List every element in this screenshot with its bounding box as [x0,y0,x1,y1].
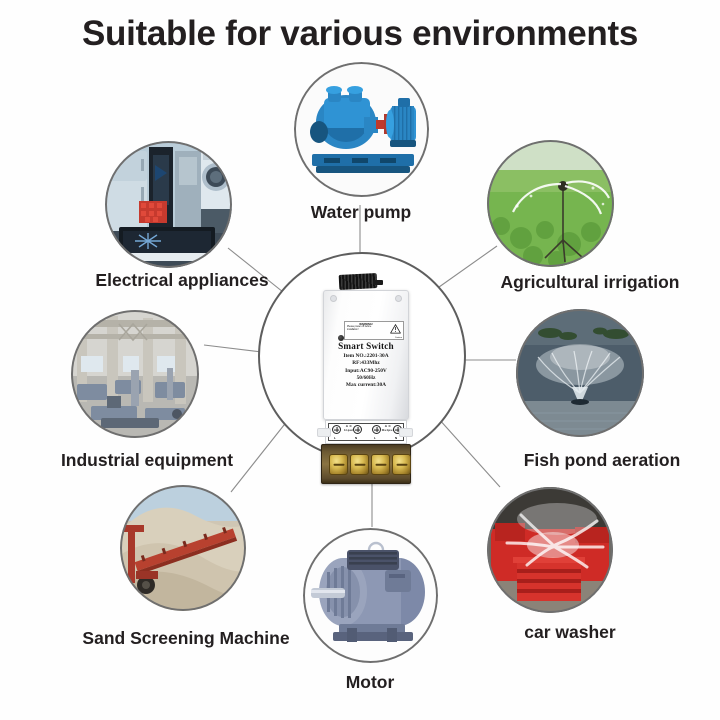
fish-pond-aeration-ring [516,309,644,437]
electrical-appliances-ring [105,141,232,268]
caution-label: Caution [395,337,402,339]
pole-label-n1: N [355,436,357,440]
device-specs: Item NO.:2201-30A RF:433Mhz Input:AC90-2… [324,353,408,389]
pole-label-l2: L [374,436,376,440]
antenna-base [373,280,383,285]
app-circle-electrical-appliances[interactable] [105,141,232,268]
app-label-car-washer: car washer [470,622,670,643]
mounting-foot-right [399,428,413,437]
mounting-foot-left [317,428,331,437]
car-washer-ring [487,487,613,613]
brass-terminal-2 [350,454,369,475]
smart-switch-device[interactable]: WARNING! Please power off before install… [315,268,415,450]
app-circle-motor[interactable] [303,528,438,663]
app-circle-fish-pond-aeration[interactable] [516,309,644,437]
spec-frequency: 50/60Hz [324,375,408,382]
caution-triangle-icon [390,324,401,334]
brass-terminal-1 [329,454,348,475]
ac-input-line2: Input [344,428,354,432]
app-label-agricultural-irrigation: Agricultural irrigation [470,272,710,293]
app-circle-industrial-equipment[interactable] [71,310,199,438]
infographic-canvas: Suitable for various environments [0,0,720,720]
water-pump-ring [294,62,429,197]
app-circle-agricultural-irrigation[interactable] [487,140,614,267]
device-body: WARNING! Please power off before install… [323,290,409,420]
antenna [339,273,378,290]
warning-label: WARNING! Please power off before install… [344,321,404,340]
app-label-electrical-appliances: Electrical appliances [58,270,306,291]
app-label-water-pump: Water pump [258,202,464,223]
spec-item-no: Item NO.:2201-30A [324,353,408,360]
spec-rf: RF:433Mhz [324,360,408,367]
app-circle-car-washer[interactable] [487,487,613,613]
sand-screening-machine-ring [120,485,246,611]
app-circle-sand-screening-machine[interactable] [120,485,246,611]
ac-output-line2: Output [382,428,395,432]
pole-label-l1: L [334,436,336,440]
spec-max-current: Max current:30A [324,382,408,389]
brass-terminal-4 [392,454,411,475]
app-label-fish-pond-aeration: Fish pond aeration [488,450,716,471]
mount-hole-right [395,295,402,302]
industrial-equipment-ring [71,310,199,438]
mount-hole-left [330,295,337,302]
brass-terminal-3 [371,454,390,475]
app-label-industrial-equipment: Industrial equipment [22,450,272,471]
ac-input-label: A C Input [340,425,358,432]
app-circle-water-pump[interactable] [294,62,429,197]
app-label-motor: Motor [280,672,460,693]
pole-label-n2: N [395,436,397,440]
agricultural-irrigation-ring [487,140,614,267]
spec-input: Input:AC90-250V [324,368,408,375]
terminal-block [321,444,411,484]
warning-line-2: installation! [347,329,385,332]
warning-text: WARNING! Please power off before install… [347,323,385,332]
app-label-sand-screening-machine: Sand Screening Machine [56,628,316,649]
motor-ring [303,528,438,663]
device-brand: Smart Switch [324,341,408,351]
terminal-label-plate: A C Input A C Output L N L N [325,420,407,444]
ac-output-label: A C Output [379,425,397,432]
